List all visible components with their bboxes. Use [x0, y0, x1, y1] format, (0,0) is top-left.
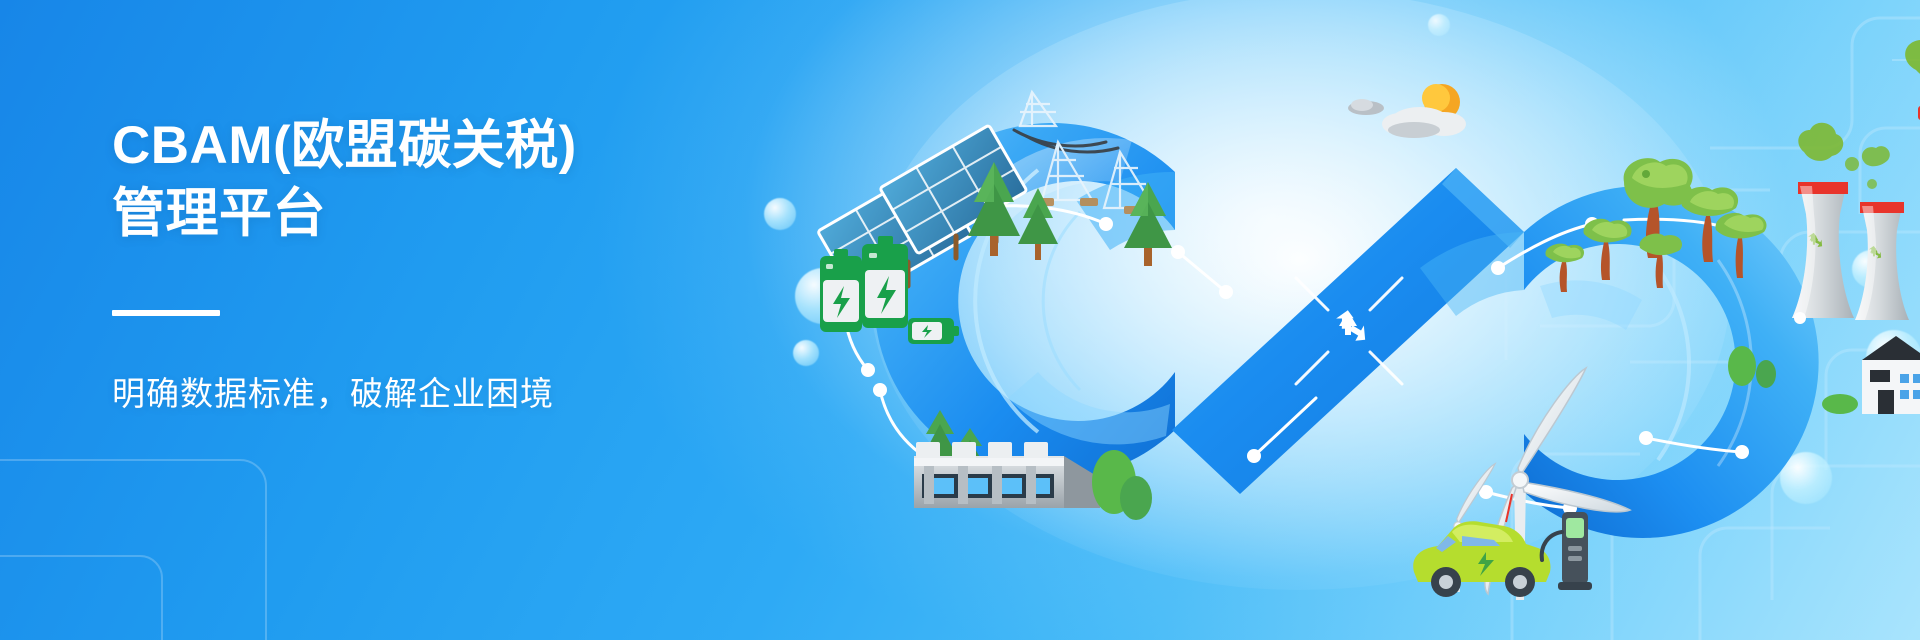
title-divider: [112, 310, 220, 316]
recycle-icon: [1322, 304, 1374, 356]
factory-building: [1822, 336, 1920, 414]
cbam-hero-banner: CBAM(欧盟碳关税) 管理平台 明确数据标准，破解企业困境: [0, 0, 1920, 640]
carbon-neutral-illustration: [780, 0, 1920, 640]
page-subtitle: 明确数据标准，破解企业困境: [112, 372, 752, 416]
page-title-line-2: 管理平台: [112, 180, 752, 248]
hero-text-block: CBAM(欧盟碳关税) 管理平台 明确数据标准，破解企业困境: [112, 112, 752, 416]
page-title-line-1: CBAM(欧盟碳关税): [112, 112, 752, 180]
green-smoke-plume: [1798, 7, 1920, 189]
connector-nodes-right: [1794, 312, 1806, 324]
cooling-tower-group: [1792, 182, 1909, 320]
